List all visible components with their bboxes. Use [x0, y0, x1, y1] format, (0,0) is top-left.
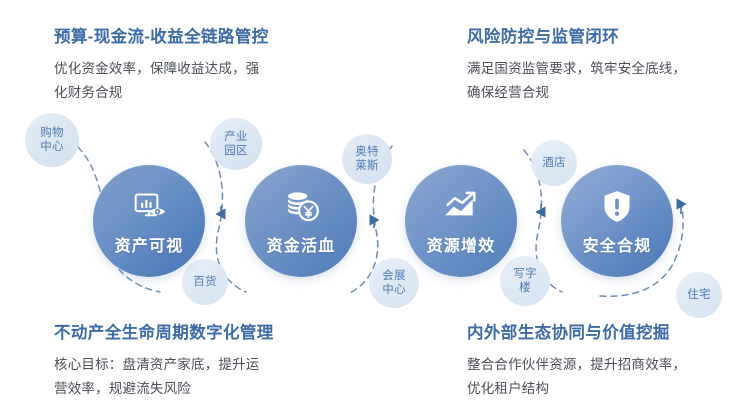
bubble-outlets: 奥特 莱斯 [342, 134, 392, 184]
bubble-line: 写字 [513, 267, 537, 281]
text-block-bottom-left: 不动产全生命周期数字化管理 核心目标：盘清资产家底，提升运 营效率，规避流失风险 [54, 323, 274, 401]
text-block-bottom-right: 内外部生态协同与价值挖掘 整合合作伙伴资源，提升招商效率， 优化租户结构 [467, 323, 686, 401]
bubble-line: 中心 [382, 283, 406, 297]
body-line: 优化资金效率，保障收益达成，强 [54, 57, 269, 81]
growth-chart-arrow-icon [441, 187, 481, 227]
bubble-convention-center: 会展 中心 [369, 258, 419, 308]
node-security-compliance[interactable]: 安全合规 [561, 165, 673, 277]
bubble-line: 购物 [40, 126, 64, 140]
body-top-left: 优化资金效率，保障收益达成，强 化财务合规 [54, 57, 269, 105]
node-label: 安全合规 [583, 232, 652, 256]
body-line: 整合合作伙伴资源，提升招商效率， [467, 353, 686, 377]
node-capital-flow[interactable]: 资金活血 [245, 165, 357, 277]
body-line: 核心目标：盘清资产家底，提升运 [54, 353, 274, 377]
bubble-line: 园区 [224, 144, 248, 158]
body-top-right: 满足国资监管要求，筑牢安全底线， 确保经营合规 [467, 57, 686, 105]
bubble-line: 酒店 [542, 156, 566, 170]
bubble-department-store: 百货 [182, 259, 228, 305]
bubble-office-building: 写字 楼 [500, 256, 550, 306]
body-bottom-left: 核心目标：盘清资产家底，提升运 营效率，规避流失风险 [54, 353, 274, 401]
bubble-line: 产业 [224, 130, 248, 144]
bubble-hotel: 酒店 [531, 140, 577, 186]
bubble-industrial-park: 产业 园区 [210, 118, 262, 170]
heading-top-left: 预算-现金流-收益全链路管控 [54, 27, 269, 48]
node-asset-visibility[interactable]: 资产可视 [93, 165, 205, 277]
coin-stack-yuan-icon [281, 187, 321, 227]
asset-monitor-eye-icon [129, 187, 169, 227]
bubble-residential: 住宅 [676, 272, 722, 318]
body-line: 确保经营合规 [467, 81, 686, 105]
bubble-shopping-mall: 购物 中心 [25, 113, 79, 167]
bubble-line: 会展 [382, 269, 406, 283]
text-block-top-right: 风险防控与监管闭环 满足国资监管要求，筑牢安全底线， 确保经营合规 [467, 27, 686, 105]
bubble-line: 百货 [193, 275, 217, 289]
text-block-top-left: 预算-现金流-收益全链路管控 优化资金效率，保障收益达成，强 化财务合规 [54, 27, 269, 105]
heading-top-right: 风险防控与监管闭环 [467, 27, 686, 48]
node-resource-efficiency[interactable]: 资源增效 [405, 165, 517, 277]
bubble-line: 莱斯 [355, 159, 379, 173]
body-line: 优化租户结构 [467, 377, 686, 401]
heading-bottom-left: 不动产全生命周期数字化管理 [54, 323, 274, 344]
body-line: 营效率，规避流失风险 [54, 377, 274, 401]
node-label: 资金活血 [267, 232, 336, 256]
infographic-canvas: 购物 中心 产业 园区 奥特 莱斯 酒店 百货 会展 中心 写字 [0, 0, 752, 416]
bubble-line: 楼 [513, 281, 537, 295]
bubble-line: 中心 [40, 140, 64, 154]
node-label: 资源增效 [427, 232, 496, 256]
body-bottom-right: 整合合作伙伴资源，提升招商效率， 优化租户结构 [467, 353, 686, 401]
body-line: 满足国资监管要求，筑牢安全底线， [467, 57, 686, 81]
node-label: 资产可视 [115, 232, 184, 256]
bubble-line: 住宅 [687, 288, 711, 302]
bubble-line: 奥特 [355, 145, 379, 159]
heading-bottom-right: 内外部生态协同与价值挖掘 [467, 323, 686, 344]
shield-alert-icon [597, 187, 637, 227]
body-line: 化财务合规 [54, 81, 269, 105]
